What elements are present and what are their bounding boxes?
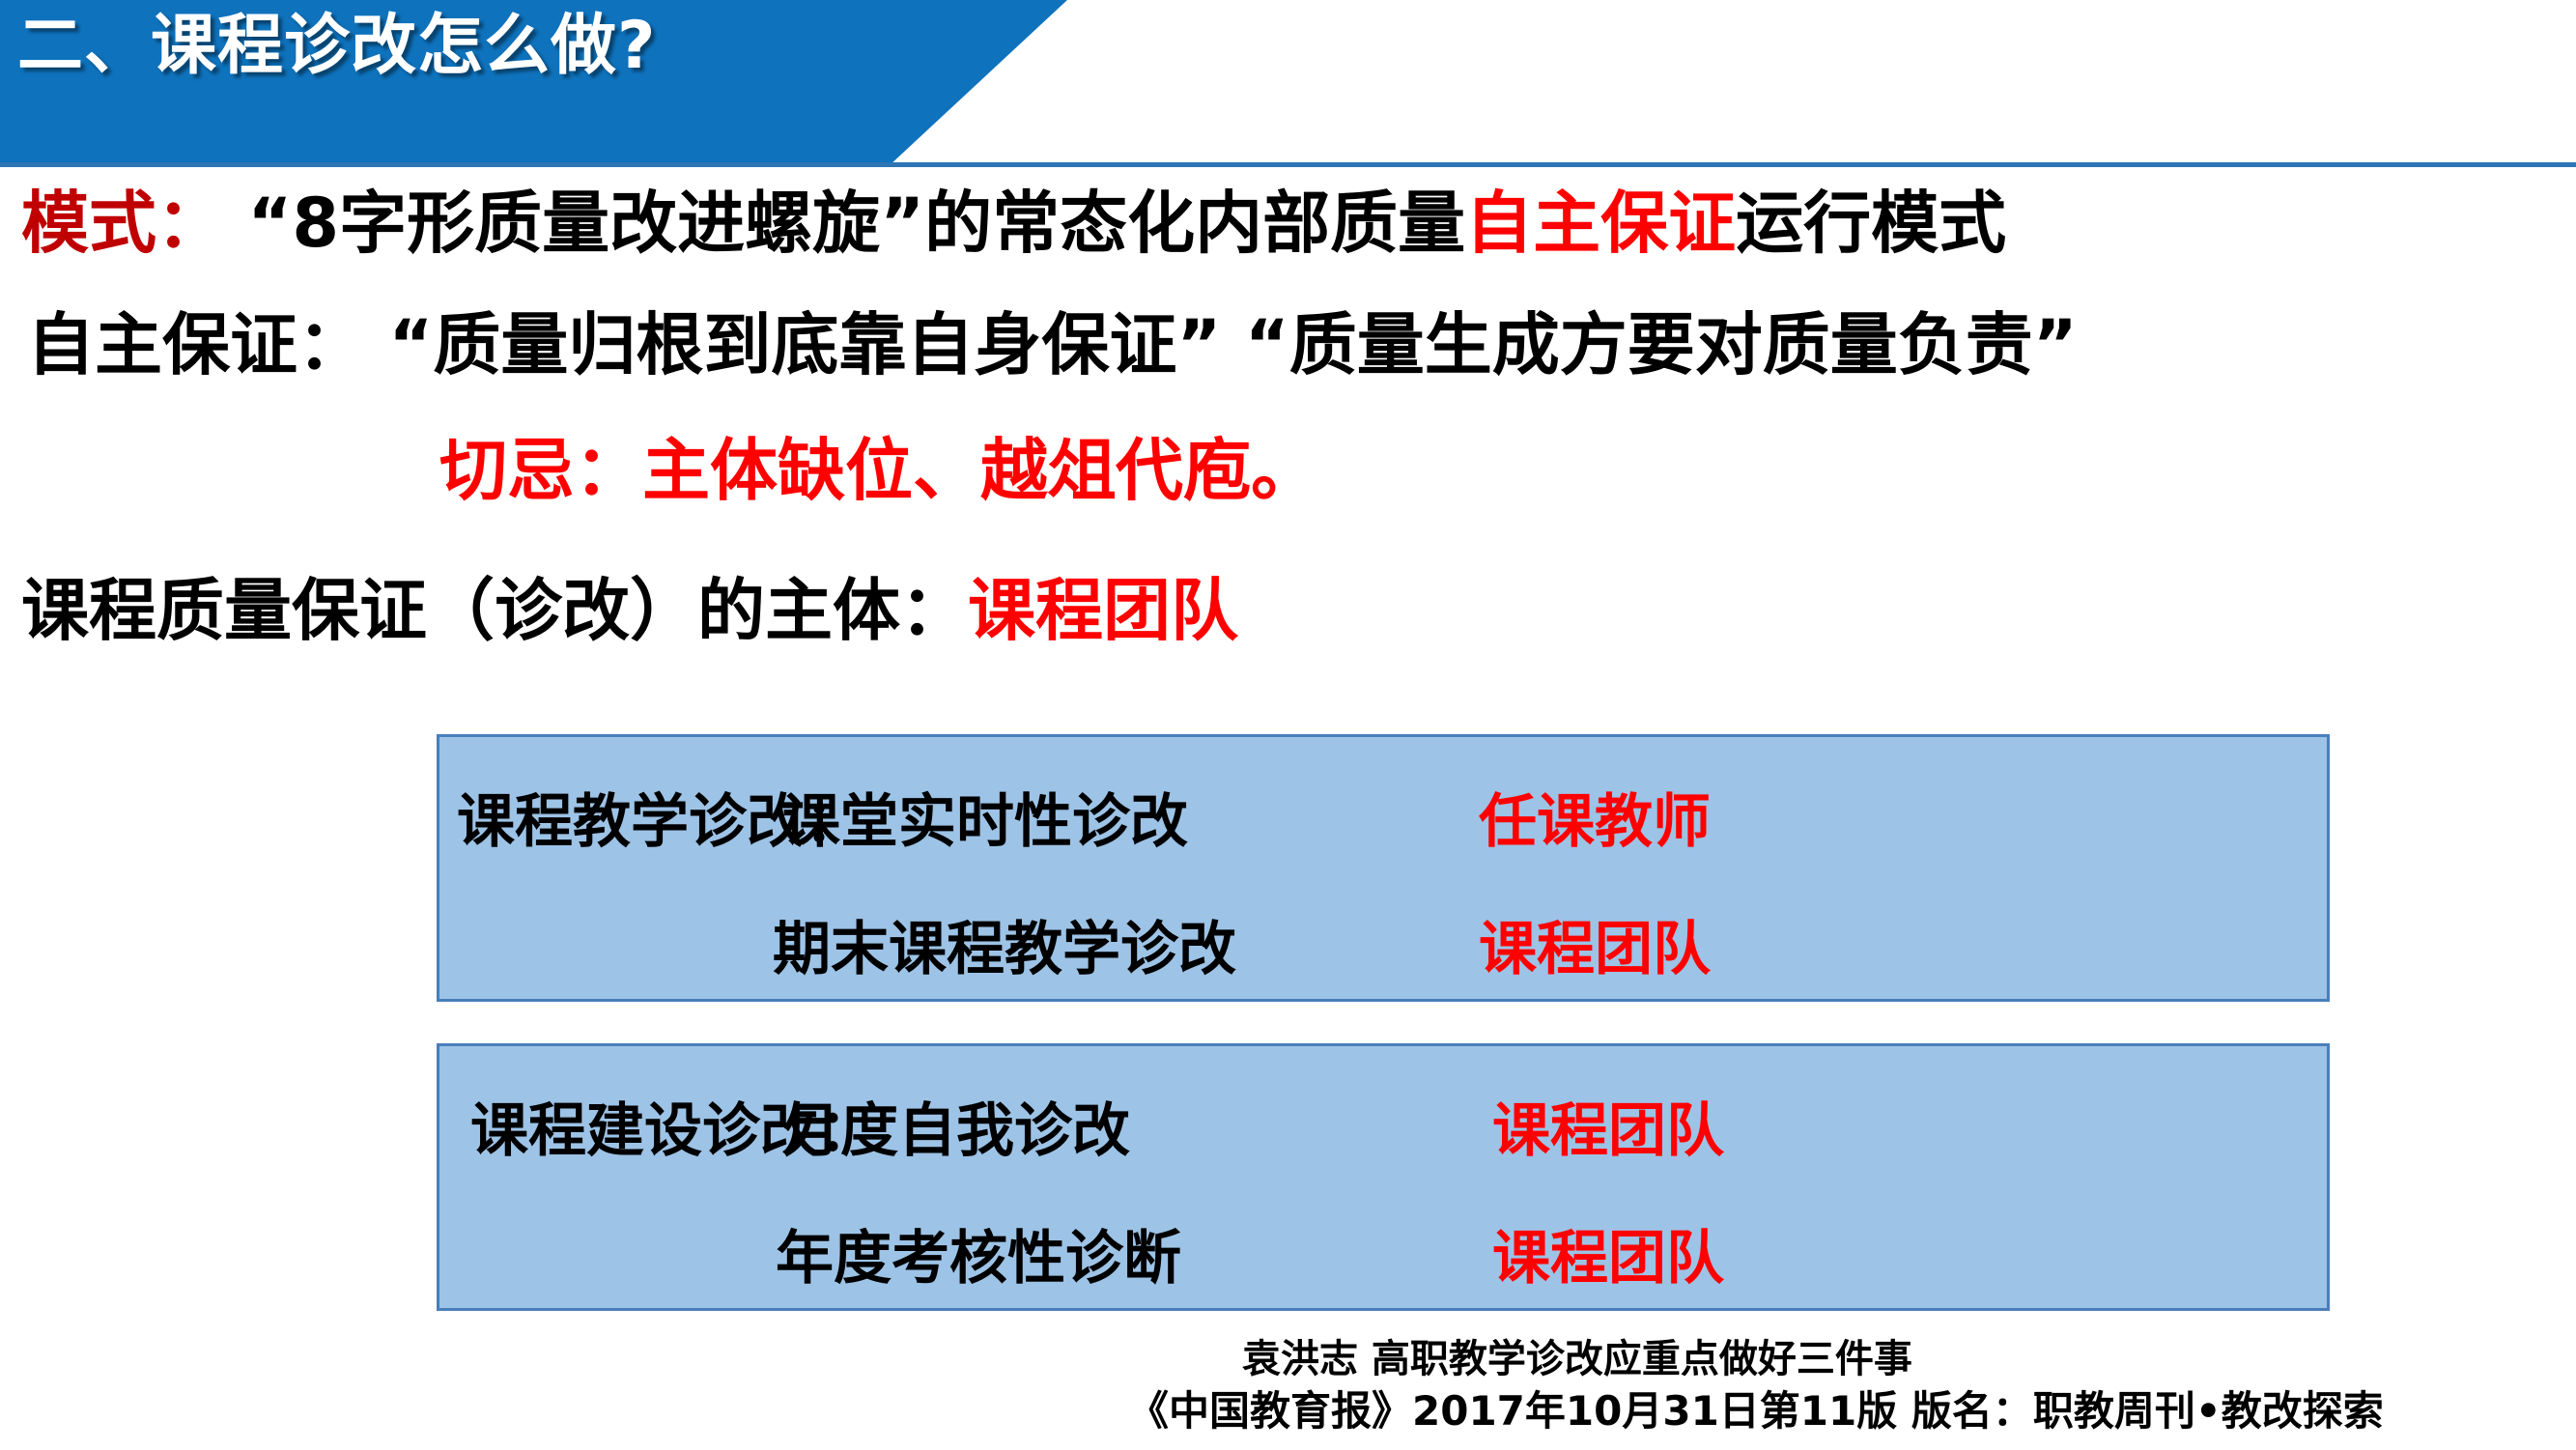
- source-publication-line: 《中国教育报》2017年10月31日第11版 版名：职教周刊•教改探索: [1128, 1391, 2384, 1432]
- table-row-item: 月度自我诊改: [782, 1102, 1130, 1160]
- subject-answer: 课程团队: [968, 571, 1238, 650]
- table-row-actor: 课程团队: [1492, 1102, 1724, 1160]
- construction-diagnosis-box: 课程建设诊改： 月度自我诊改 课程团队 年度考核性诊断 课程团队: [437, 1043, 2330, 1311]
- mode-label: 模式：: [21, 184, 224, 263]
- table-row-item: 年度考核性诊断: [776, 1230, 1181, 1288]
- header-banner: 二、课程诊改怎么做?: [0, 0, 1067, 166]
- mode-line: 模式： “8字形质量改进螺旋”的常态化内部质量自主保证运行模式: [21, 189, 2006, 257]
- table-row-actor: 课程团队: [1492, 1230, 1724, 1288]
- page-title: 二、课程诊改怎么做?: [17, 12, 656, 80]
- table-row-item: 课堂实时性诊改: [782, 793, 1188, 851]
- mode-text-part2: 运行模式: [1736, 184, 2006, 263]
- self-guarantee-line: 自主保证： “质量归根到底靠自身保证” “质量生成方要对质量负责”: [27, 311, 2078, 379]
- table-row-item: 期末课程教学诊改: [773, 921, 1236, 979]
- subject-label: 课程质量保证（诊改）的主体：: [21, 571, 968, 650]
- teaching-diagnosis-box: 课程教学诊改： 课堂实时性诊改 任课教师 期末课程教学诊改 课程团队: [437, 734, 2330, 1002]
- warning-line: 切忌：主体缺位、越俎代庖。: [439, 437, 1318, 504]
- source-author-line: 袁洪志 高职教学诊改应重点做好三件事: [1242, 1340, 1912, 1379]
- subject-line: 课程质量保证（诊改）的主体：课程团队: [21, 577, 1238, 644]
- slide-canvas: 二、课程诊改怎么做? 模式： “8字形质量改进螺旋”的常态化内部质量自主保证运行…: [0, 0, 2576, 1450]
- table-row-actor: 任课教师: [1479, 793, 1711, 851]
- table-row-actor: 课程团队: [1479, 921, 1711, 979]
- mode-highlight: 自主保证: [1465, 184, 1736, 263]
- header-divider-rule: [0, 162, 2576, 167]
- mode-text-part1: “8字形质量改进螺旋”的常态化内部质量: [224, 184, 1465, 263]
